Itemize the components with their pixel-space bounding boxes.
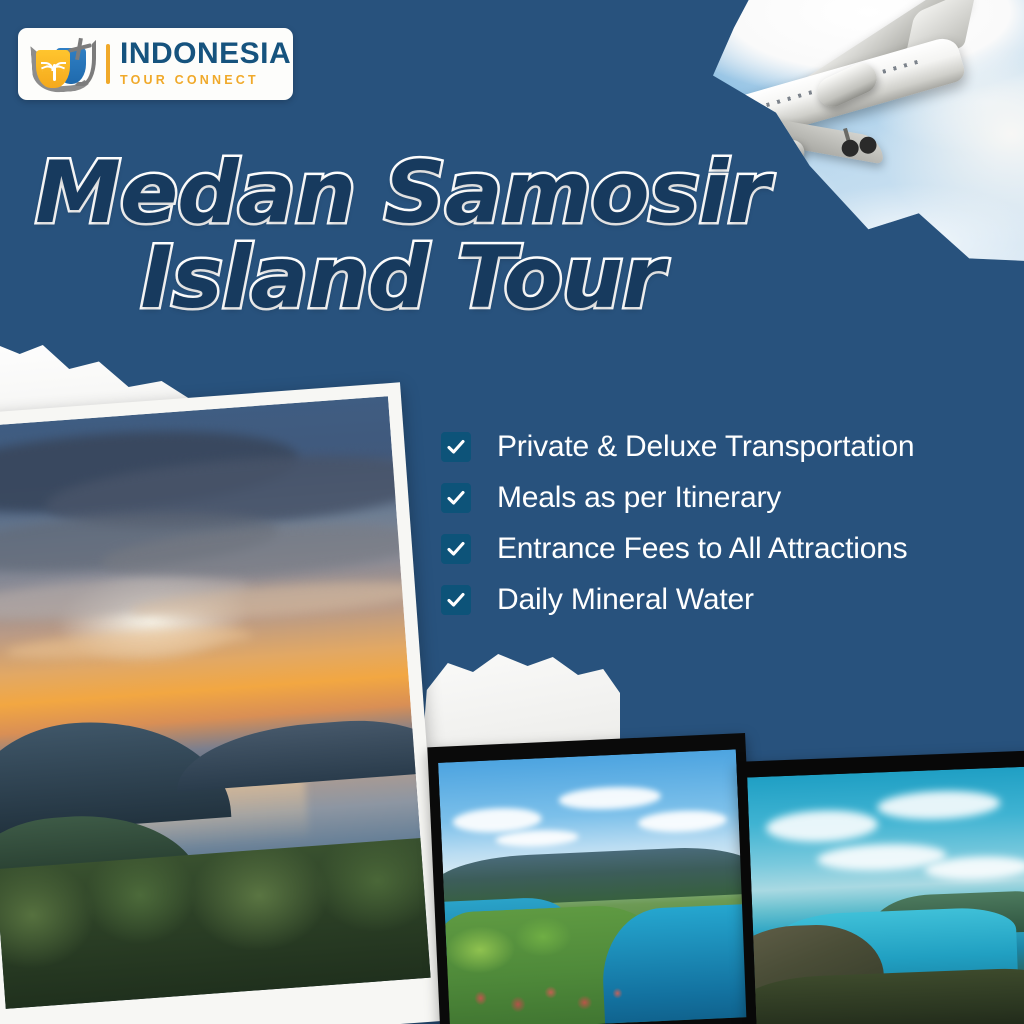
check-icon xyxy=(441,432,471,462)
list-item[interactable]: Private & Deluxe Transportation xyxy=(441,430,1016,464)
features-list: Private & Deluxe Transportation Meals as… xyxy=(441,430,1016,634)
page-title: Medan Samosir Island Tour xyxy=(0,152,780,319)
palm-shield-icon xyxy=(30,36,102,92)
list-item[interactable]: Meals as per Itinerary xyxy=(441,481,1016,515)
lake-toba-vista-photo xyxy=(737,750,1024,1024)
logo-divider xyxy=(106,44,110,84)
list-item-label: Private & Deluxe Transportation xyxy=(497,430,914,464)
samosir-aerial-photo xyxy=(427,733,758,1024)
brand-tagline: TOUR CONNECT xyxy=(120,72,291,90)
promo-poster: INDONESIA TOUR CONNECT Medan Samosir Isl… xyxy=(0,0,1024,1024)
list-item-label: Daily Mineral Water xyxy=(497,583,754,617)
lake-toba-sunset-photo xyxy=(0,382,447,1024)
list-item[interactable]: Daily Mineral Water xyxy=(441,583,1016,617)
list-item-label: Meals as per Itinerary xyxy=(497,481,781,515)
title-line-2: Island Tour xyxy=(0,237,780,320)
check-icon xyxy=(441,585,471,615)
check-icon xyxy=(441,483,471,513)
title-line-1: Medan Samosir xyxy=(0,152,780,235)
brand-logo[interactable]: INDONESIA TOUR CONNECT xyxy=(18,28,293,100)
list-item[interactable]: Entrance Fees to All Attractions xyxy=(441,532,1016,566)
list-item-label: Entrance Fees to All Attractions xyxy=(497,532,907,566)
check-icon xyxy=(441,534,471,564)
brand-name: INDONESIA xyxy=(120,39,291,70)
